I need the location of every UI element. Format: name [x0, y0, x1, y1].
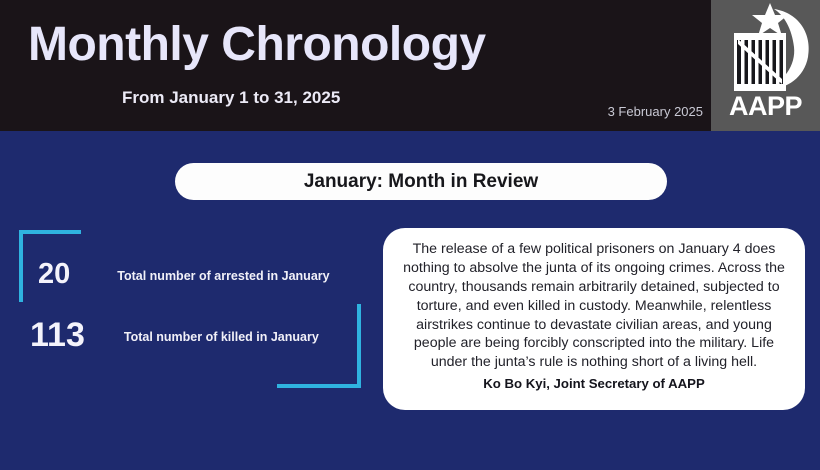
publication-date: 3 February 2025 [608, 104, 703, 119]
star-icon [752, 3, 788, 36]
stat-killed: 113 Total number of killed in January [30, 318, 319, 352]
page-title: Monthly Chronology [28, 18, 486, 72]
quote-attribution: Ko Bo Kyi, Joint Secretary of AAPP [483, 376, 705, 391]
stat-arrested: 20 Total number of arrested in January [38, 260, 330, 289]
month-in-review-banner: January: Month in Review [175, 163, 667, 200]
stat-killed-label: Total number of killed in January [124, 330, 319, 344]
date-range-subtitle: From January 1 to 31, 2025 [122, 88, 340, 108]
aapp-logo-panel: AAPP [711, 0, 820, 131]
stat-arrested-value: 20 [38, 260, 70, 289]
poster-header: Monthly Chronology From January 1 to 31,… [0, 0, 820, 131]
quote-text: The release of a few political prisoners… [399, 240, 789, 372]
poster-canvas: Monthly Chronology From January 1 to 31,… [0, 0, 820, 470]
stat-killed-value: 113 [30, 318, 85, 352]
quote-card: The release of a few political prisoners… [383, 228, 805, 410]
aapp-logo-mark [718, 1, 814, 96]
stat-arrested-label: Total number of arrested in January [117, 269, 329, 283]
aapp-wordmark: AAPP [729, 93, 802, 120]
month-in-review-label: January: Month in Review [304, 171, 538, 193]
prison-cage-icon [734, 33, 786, 91]
